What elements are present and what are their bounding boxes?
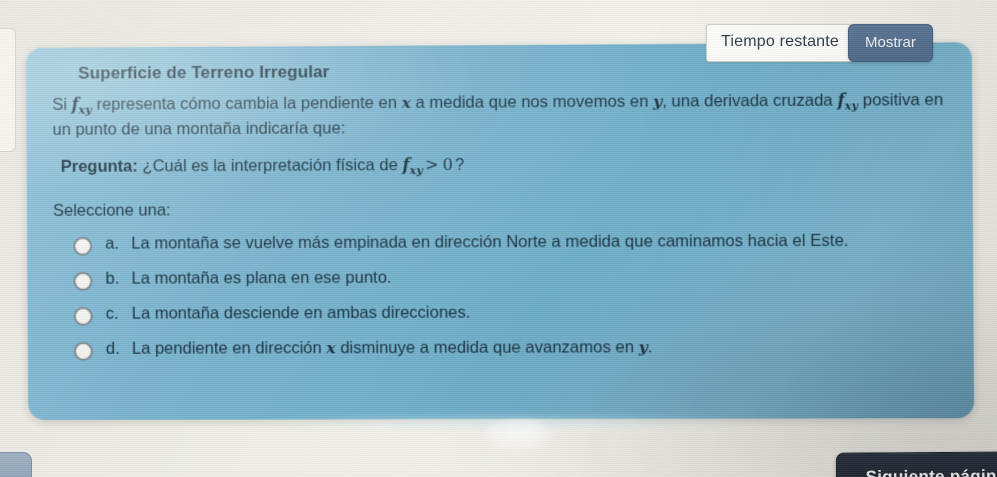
show-time-button[interactable]: Mostrar xyxy=(848,24,933,62)
stem-text-1: Si xyxy=(52,96,71,114)
left-edge-panel xyxy=(0,28,16,152)
radio-button-d[interactable] xyxy=(74,342,93,361)
option-letter-d: d. xyxy=(106,338,132,362)
timer-widget: Tiempo restante Mostrar xyxy=(706,24,933,62)
option-text-c: La montaña desciende en ambas direccione… xyxy=(132,302,471,327)
radio-button-b[interactable] xyxy=(73,272,92,291)
screen-glare-spot xyxy=(483,418,555,452)
option-d-text-before: La pendiente en dirección xyxy=(132,339,327,358)
option-letter-c: c. xyxy=(106,303,132,327)
option-d-text-middle: disminuye a medida que avanzamos en xyxy=(336,338,639,357)
stem-text-4: , una derivada cruzada xyxy=(662,91,837,110)
prompt-value: 0 xyxy=(440,155,454,174)
answer-options-list: a. La montaña se vuelve más empinada en … xyxy=(53,230,947,362)
option-d-var-y: y xyxy=(639,337,648,356)
option-d-text-after: . xyxy=(648,338,653,356)
stem-text-3: a medida que nos movemos en xyxy=(411,93,653,112)
next-page-button[interactable]: Siguiente página xyxy=(836,451,997,477)
stem-math-fxy-2: fxy xyxy=(837,90,858,109)
question-title: Superficie de Terreno Irregular xyxy=(78,59,945,84)
answer-option-d[interactable]: d. La pendiente en dirección x disminuye… xyxy=(54,336,947,362)
time-remaining-label: Tiempo restante xyxy=(706,24,854,62)
option-letter-a: a. xyxy=(105,233,131,257)
option-letter-b: b. xyxy=(105,268,131,292)
answer-option-a[interactable]: a. La montaña se vuelve más empinada en … xyxy=(53,230,946,258)
prompt-operator: > xyxy=(423,155,441,174)
stem-text-2: representa cómo cambia la pendiente en xyxy=(92,94,402,114)
option-d-var-x: x xyxy=(326,338,335,357)
bottom-left-chip xyxy=(0,452,32,477)
option-text-d: La pendiente en dirección x disminuye a … xyxy=(132,336,653,361)
option-text-a: La montaña se vuelve más empinada en dir… xyxy=(131,230,848,257)
answer-option-b[interactable]: b. La montaña es plana en ese punto. xyxy=(53,265,946,292)
question-prompt: Pregunta: ¿Cuál es la interpretación fís… xyxy=(61,152,946,181)
prompt-math-fxy: fxy xyxy=(402,155,423,174)
prompt-suffix: ? xyxy=(455,156,464,174)
question-stem: Si fxy representa cómo cambia la pendien… xyxy=(52,89,946,142)
radio-button-c[interactable] xyxy=(74,307,93,326)
option-text-b: La montaña es plana en ese punto. xyxy=(131,267,391,292)
prompt-text: ¿Cuál es la interpretación física de xyxy=(138,156,403,175)
radio-button-a[interactable] xyxy=(73,237,92,256)
select-one-label: Seleccione una: xyxy=(53,198,946,221)
prompt-label: Pregunta: xyxy=(61,158,138,176)
question-card: Superficie de Terreno Irregular Si fxy r… xyxy=(26,42,974,420)
answer-option-c[interactable]: c. La montaña desciende en ambas direcci… xyxy=(54,300,947,327)
quiz-screen-photo: Tiempo restante Mostrar Superficie de Te… xyxy=(0,0,997,477)
stem-math-fxy-1: fxy xyxy=(72,95,92,114)
stem-var-x: x xyxy=(402,93,411,112)
